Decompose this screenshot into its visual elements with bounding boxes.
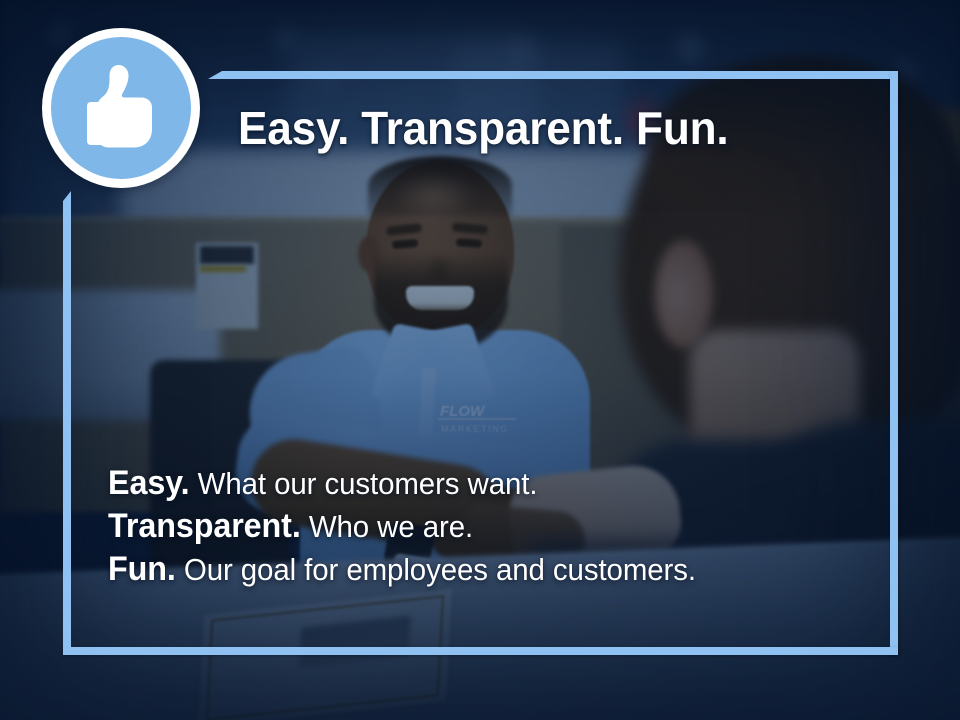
- value-prop-item: Transparent. Who we are.: [108, 505, 696, 548]
- value-prop-description: Who we are.: [309, 509, 473, 544]
- frame-border-left: [63, 191, 71, 655]
- value-prop-item: Easy. What our customers want.: [108, 462, 696, 505]
- thumbs-up-icon: [78, 62, 164, 154]
- thumbs-up-badge: [42, 28, 200, 188]
- frame-border-top: [208, 71, 898, 79]
- value-prop-item: Fun. Our goal for employees and customer…: [108, 548, 696, 591]
- value-prop-lead: Transparent.: [108, 507, 301, 545]
- value-prop-lead: Fun.: [108, 550, 176, 588]
- frame-border-bottom: [63, 647, 898, 655]
- value-prop-lead: Easy.: [108, 464, 190, 502]
- value-prop-list: Easy. What our customers want. Transpare…: [108, 462, 727, 591]
- frame-border-right: [890, 71, 898, 655]
- promo-banner: FLOW MARKETING: [0, 0, 960, 720]
- value-prop-description: What our customers want.: [198, 466, 538, 501]
- value-prop-description: Our goal for employees and customers.: [184, 552, 696, 587]
- headline: Easy. Transparent. Fun.: [238, 101, 729, 155]
